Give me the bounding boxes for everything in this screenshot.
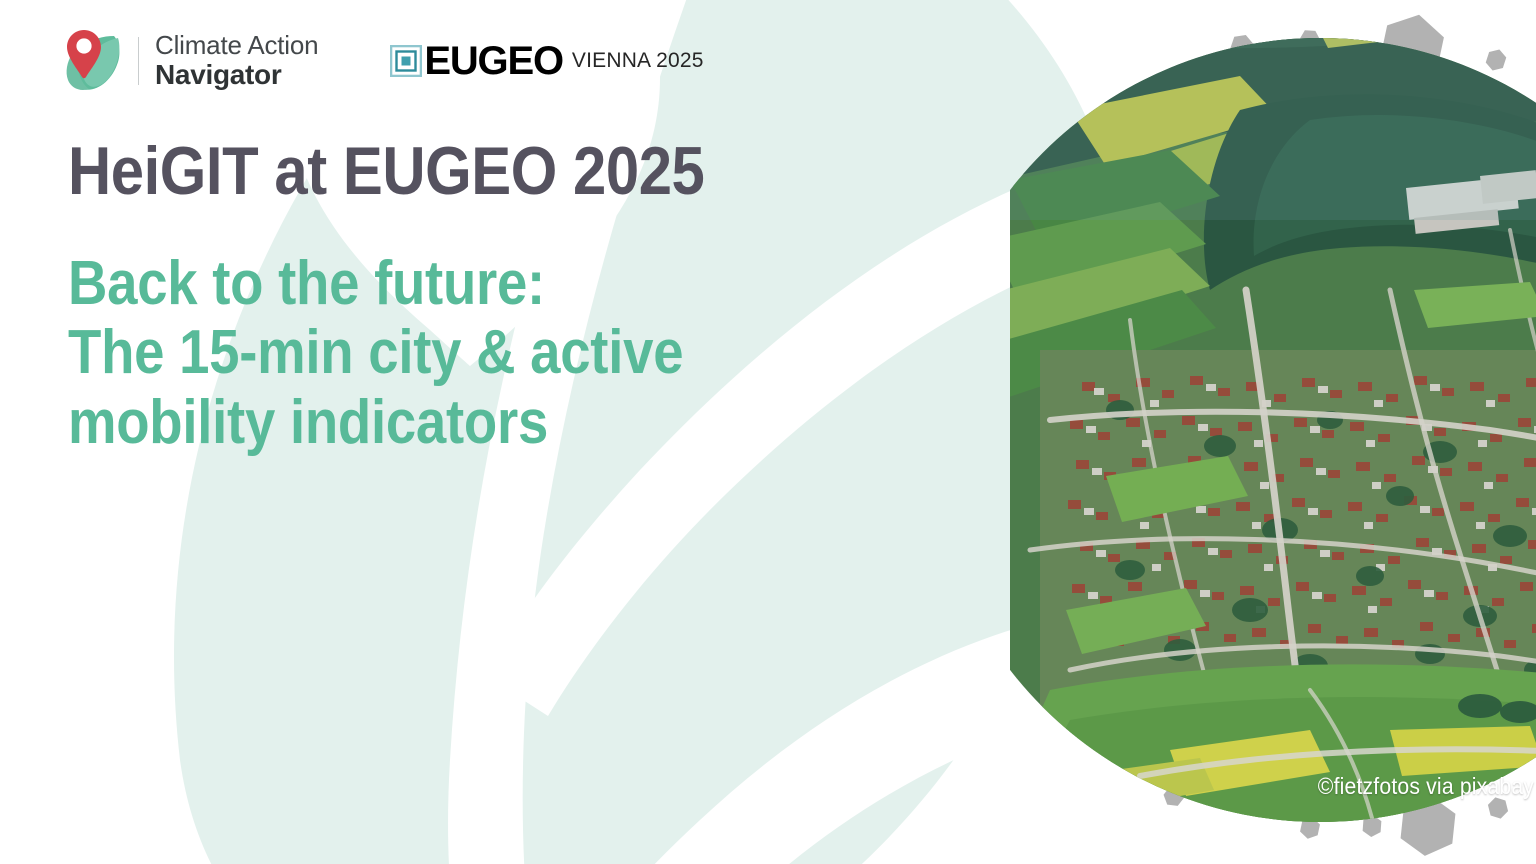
nested-squares-icon [390,45,422,77]
leaf-map-pin-logo-icon [62,26,124,96]
page-title: HeiGIT at EUGEO 2025 [68,137,702,205]
aerial-photo-circle [1010,0,1536,864]
header-logos: Climate Action Navigator EUGEO VIENNA 20… [62,26,704,96]
can-line-2: Navigator [155,60,318,89]
climate-action-navigator-logo: Climate Action Navigator [62,26,318,96]
can-line-1: Climate Action [155,32,318,59]
eugeo-logo: EUGEO VIENNA 2025 [390,41,703,81]
subtitle-line-3: mobility indicators [68,388,702,457]
photo-credit: ©fietzfotos via pixabay [1318,773,1534,800]
slide-canvas: Climate Action Navigator EUGEO VIENNA 20… [0,0,1536,864]
title-block: HeiGIT at EUGEO 2025 Back to the future:… [68,137,788,457]
eugeo-wordmark: EUGEO [424,41,562,81]
circular-photo-area: ©fietzfotos via pixabay [1010,0,1536,864]
climate-action-navigator-wordmark: Climate Action Navigator [155,32,318,90]
page-subtitle: Back to the future: The 15-min city & ac… [68,249,702,457]
eugeo-subtitle: VIENNA 2025 [572,50,704,72]
subtitle-line-2: The 15-min city & active [68,318,702,387]
logo-divider [138,37,139,85]
aerial-photo-image [1010,0,1536,864]
subtitle-line-1: Back to the future: [68,249,702,318]
